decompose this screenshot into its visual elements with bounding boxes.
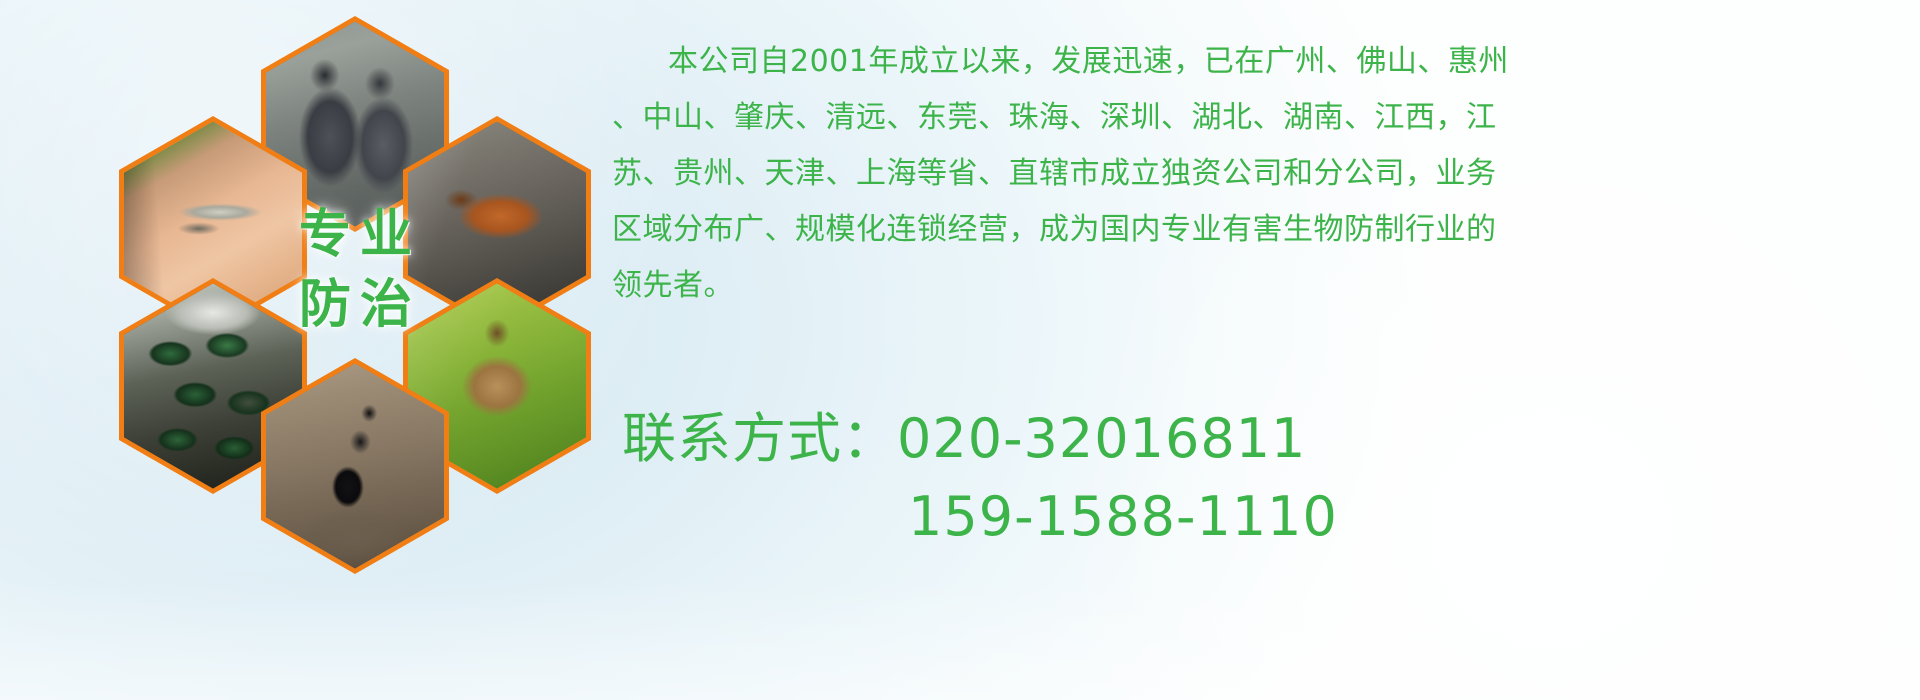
contact-secondary-row: 159-1588-1110 [622, 478, 1338, 556]
contact-phone-secondary[interactable]: 159-1588-1110 [908, 485, 1338, 548]
background-fade-bottom [0, 580, 1920, 700]
contact-label: 联系方式： [622, 407, 897, 470]
promo-banner: 专业 防治 本公司自2001年成立以来，发展迅速，已在广州、佛山、惠州 、中山、… [0, 0, 1920, 700]
intro-line-4: 区域分布广、规模化连锁经营，成为国内专业有害生物防制行业的 [612, 202, 1872, 258]
intro-line-1: 本公司自2001年成立以来，发展迅速，已在广州、佛山、惠州 [612, 34, 1872, 90]
intro-line-5: 领先者。 [612, 258, 1872, 314]
intro-paragraph: 本公司自2001年成立以来，发展迅速，已在广州、佛山、惠州 、中山、肇庆、清远、… [612, 34, 1872, 314]
intro-line-2: 、中山、肇庆、清远、东莞、珠海、深圳、湖北、湖南、江西，江 [612, 90, 1872, 146]
ant-photo [266, 364, 444, 569]
intro-line-3: 苏、贵州、天津、上海等省、直辖市成立独资公司和分公司，业务 [612, 146, 1872, 202]
honeycomb-collage: 专业 防治 [95, 10, 595, 555]
contact-phone-primary[interactable]: 020-32016811 [897, 407, 1306, 470]
contact-primary-row: 联系方式：020-32016811 [622, 400, 1338, 478]
hex-inner-ant [266, 364, 444, 569]
contact-block: 联系方式：020-32016811 159-1588-1110 [622, 400, 1338, 556]
intro-content: 本公司自2001年成立以来，发展迅速，已在广州、佛山、惠州 、中山、肇庆、清远、… [612, 34, 1872, 314]
